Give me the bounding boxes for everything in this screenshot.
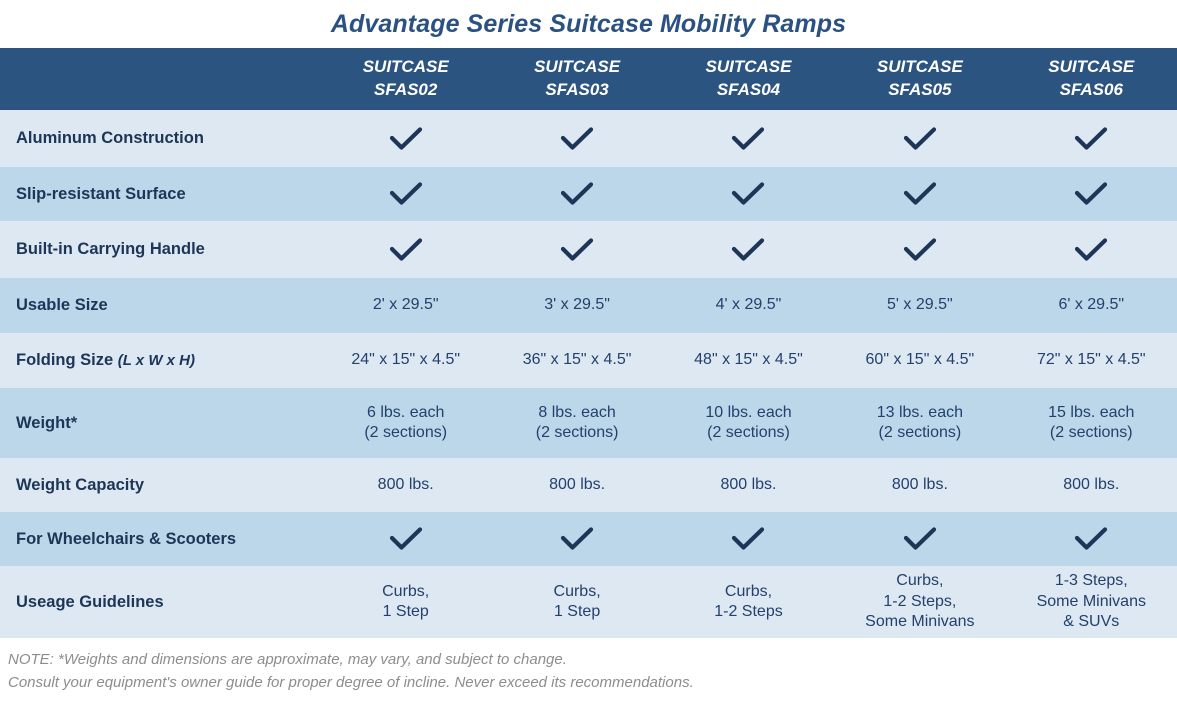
row-label-text: For Wheelchairs & Scooters <box>16 530 236 548</box>
cell-line: 6 lbs. each <box>320 403 491 423</box>
checkmark-icon <box>389 126 423 152</box>
footer-note: NOTE: *Weights and dimensions are approx… <box>0 638 1177 695</box>
cell-line: 1-2 Steps <box>663 602 834 622</box>
table-cell: 800 lbs. <box>663 458 834 512</box>
cell-line: 800 lbs. <box>491 475 662 495</box>
row-label-text: Built-in Carrying Handle <box>16 240 205 258</box>
table-row: Slip-resistant Surface <box>0 167 1177 221</box>
row-label-6: Weight Capacity <box>0 458 320 512</box>
table-cell: 2' x 29.5" <box>320 278 491 333</box>
table-cell <box>663 512 834 566</box>
checkmark-icon <box>560 181 594 207</box>
table-cell <box>491 167 662 221</box>
table-cell: 800 lbs. <box>834 458 1005 512</box>
cell-line: (2 sections) <box>320 423 491 443</box>
table-cell <box>834 221 1005 278</box>
checkmark-icon <box>1074 237 1108 263</box>
cell-line: 800 lbs. <box>1006 475 1177 495</box>
checkmark-icon <box>731 126 765 152</box>
table-cell <box>320 110 491 167</box>
checkmark-icon <box>560 526 594 552</box>
cell-line: 36" x 15" x 4.5" <box>491 350 662 370</box>
column-header-sfas02: SUITCASESFAS02 <box>320 48 491 110</box>
cell-line: 10 lbs. each <box>663 403 834 423</box>
column-header-line-2: SFAS04 <box>663 79 834 102</box>
table-row: Folding Size (L x W x H)24" x 15" x 4.5"… <box>0 333 1177 388</box>
column-header-sfas05: SUITCASESFAS05 <box>834 48 1005 110</box>
column-header-sfas04: SUITCASESFAS04 <box>663 48 834 110</box>
column-header-line-2: SFAS03 <box>491 79 662 102</box>
table-cell: 800 lbs. <box>320 458 491 512</box>
footer-note-line-2: Consult your equipment's owner guide for… <box>8 671 1177 694</box>
cell-line: (2 sections) <box>1006 423 1177 443</box>
cell-line: Some Minivans <box>834 612 1005 632</box>
row-label-7: For Wheelchairs & Scooters <box>0 512 320 566</box>
cell-line: 4' x 29.5" <box>663 295 834 315</box>
cell-line: 5' x 29.5" <box>834 295 1005 315</box>
table-cell: 6' x 29.5" <box>1006 278 1177 333</box>
checkmark-icon <box>903 181 937 207</box>
column-header-line-1: SUITCASE <box>491 56 662 79</box>
cell-line: (2 sections) <box>663 423 834 443</box>
cell-line: 2' x 29.5" <box>320 295 491 315</box>
cell-line: 6' x 29.5" <box>1006 295 1177 315</box>
table-row: Aluminum Construction <box>0 110 1177 167</box>
table-cell <box>1006 110 1177 167</box>
row-label-text: Useage Guidelines <box>16 593 164 611</box>
checkmark-icon <box>560 237 594 263</box>
checkmark-icon <box>731 526 765 552</box>
table-cell <box>834 110 1005 167</box>
table-cell <box>663 110 834 167</box>
cell-line: Curbs, <box>491 582 662 602</box>
table-row: Built-in Carrying Handle <box>0 221 1177 278</box>
cell-line: 800 lbs. <box>834 475 1005 495</box>
cell-line: 13 lbs. each <box>834 403 1005 423</box>
table-cell <box>320 512 491 566</box>
table-cell: 5' x 29.5" <box>834 278 1005 333</box>
checkmark-icon <box>731 181 765 207</box>
column-header-line-1: SUITCASE <box>834 56 1005 79</box>
checkmark-icon <box>903 526 937 552</box>
table-row: Weight Capacity800 lbs.800 lbs.800 lbs.8… <box>0 458 1177 512</box>
checkmark-icon <box>731 237 765 263</box>
table-row: Usable Size2' x 29.5"3' x 29.5"4' x 29.5… <box>0 278 1177 333</box>
table-cell: 3' x 29.5" <box>491 278 662 333</box>
table-cell: Curbs,1-2 Steps <box>663 566 834 638</box>
cell-line: Curbs, <box>320 582 491 602</box>
cell-line: (2 sections) <box>491 423 662 443</box>
table-row: Weight*6 lbs. each(2 sections)8 lbs. eac… <box>0 388 1177 458</box>
checkmark-icon <box>1074 126 1108 152</box>
table-cell: 10 lbs. each(2 sections) <box>663 388 834 458</box>
table-cell: 8 lbs. each(2 sections) <box>491 388 662 458</box>
column-header-line-1: SUITCASE <box>663 56 834 79</box>
table-cell <box>1006 512 1177 566</box>
cell-line: 1-3 Steps, <box>1006 571 1177 591</box>
cell-line: 60" x 15" x 4.5" <box>834 350 1005 370</box>
table-header-row: SUITCASESFAS02SUITCASESFAS03SUITCASESFAS… <box>0 48 1177 110</box>
row-label-2: Built-in Carrying Handle <box>0 221 320 278</box>
row-label-text: Aluminum Construction <box>16 129 204 147</box>
table-cell: 36" x 15" x 4.5" <box>491 333 662 388</box>
cell-line: 800 lbs. <box>663 475 834 495</box>
table-cell: Curbs,1 Step <box>320 566 491 638</box>
table-cell: 13 lbs. each(2 sections) <box>834 388 1005 458</box>
table-cell: 48" x 15" x 4.5" <box>663 333 834 388</box>
table-cell: 1-3 Steps,Some Minivans& SUVs <box>1006 566 1177 638</box>
column-header-sfas03: SUITCASESFAS03 <box>491 48 662 110</box>
column-header-line-1: SUITCASE <box>320 56 491 79</box>
table-cell <box>834 512 1005 566</box>
table-cell <box>491 512 662 566</box>
column-header-line-2: SFAS05 <box>834 79 1005 102</box>
table-cell: 72" x 15" x 4.5" <box>1006 333 1177 388</box>
checkmark-icon <box>903 126 937 152</box>
table-cell: 60" x 15" x 4.5" <box>834 333 1005 388</box>
table-row: Useage GuidelinesCurbs,1 StepCurbs,1 Ste… <box>0 566 1177 638</box>
checkmark-icon <box>389 181 423 207</box>
table-cell: 15 lbs. each(2 sections) <box>1006 388 1177 458</box>
cell-line: Curbs, <box>663 582 834 602</box>
table-cell <box>491 221 662 278</box>
cell-line: 800 lbs. <box>320 475 491 495</box>
table-cell: 24" x 15" x 4.5" <box>320 333 491 388</box>
row-label-1: Slip-resistant Surface <box>0 167 320 221</box>
cell-line: 24" x 15" x 4.5" <box>320 350 491 370</box>
footer-note-line-1: NOTE: *Weights and dimensions are approx… <box>8 648 1177 671</box>
cell-line: 48" x 15" x 4.5" <box>663 350 834 370</box>
table-cell <box>663 221 834 278</box>
cell-line: Some Minivans <box>1006 592 1177 612</box>
checkmark-icon <box>1074 526 1108 552</box>
cell-line: 1 Step <box>491 602 662 622</box>
cell-line: 1 Step <box>320 602 491 622</box>
table-cell: 4' x 29.5" <box>663 278 834 333</box>
column-header-line-2: SFAS06 <box>1006 79 1177 102</box>
specifications-table: SUITCASESFAS02SUITCASESFAS03SUITCASESFAS… <box>0 48 1177 638</box>
table-cell: 800 lbs. <box>491 458 662 512</box>
cell-line: 1-2 Steps, <box>834 592 1005 612</box>
row-label-4: Folding Size (L x W x H) <box>0 333 320 388</box>
table-cell <box>834 167 1005 221</box>
table-cell <box>1006 221 1177 278</box>
checkmark-icon <box>560 126 594 152</box>
row-label-suffix: (L x W x H) <box>118 352 195 369</box>
table-body: Aluminum ConstructionSlip-resistant Surf… <box>0 110 1177 638</box>
table-cell <box>663 167 834 221</box>
page-title: Advantage Series Suitcase Mobility Ramps <box>0 0 1177 48</box>
cell-line: 15 lbs. each <box>1006 403 1177 423</box>
cell-line: 8 lbs. each <box>491 403 662 423</box>
cell-line: & SUVs <box>1006 612 1177 632</box>
row-label-text: Weight Capacity <box>16 476 144 494</box>
table-header: SUITCASESFAS02SUITCASESFAS03SUITCASESFAS… <box>0 48 1177 110</box>
spec-sheet-page: Advantage Series Suitcase Mobility Ramps… <box>0 0 1177 703</box>
cell-line: 3' x 29.5" <box>491 295 662 315</box>
checkmark-icon <box>389 526 423 552</box>
table-cell <box>491 110 662 167</box>
table-cell <box>320 167 491 221</box>
row-label-3: Usable Size <box>0 278 320 333</box>
table-cell: Curbs,1 Step <box>491 566 662 638</box>
column-header-line-1: SUITCASE <box>1006 56 1177 79</box>
checkmark-icon <box>903 237 937 263</box>
table-cell <box>320 221 491 278</box>
table-cell: 6 lbs. each(2 sections) <box>320 388 491 458</box>
row-label-0: Aluminum Construction <box>0 110 320 167</box>
table-cell <box>1006 167 1177 221</box>
row-label-text: Slip-resistant Surface <box>16 185 186 203</box>
table-cell: 800 lbs. <box>1006 458 1177 512</box>
row-label-text: Weight* <box>16 414 77 432</box>
cell-line: 72" x 15" x 4.5" <box>1006 350 1177 370</box>
checkmark-icon <box>389 237 423 263</box>
table-corner-cell <box>0 48 320 110</box>
column-header-line-2: SFAS02 <box>320 79 491 102</box>
table-cell: Curbs,1-2 Steps,Some Minivans <box>834 566 1005 638</box>
row-label-5: Weight* <box>0 388 320 458</box>
row-label-text: Folding Size <box>16 351 118 369</box>
checkmark-icon <box>1074 181 1108 207</box>
row-label-8: Useage Guidelines <box>0 566 320 638</box>
row-label-text: Usable Size <box>16 296 108 314</box>
cell-line: (2 sections) <box>834 423 1005 443</box>
cell-line: Curbs, <box>834 571 1005 591</box>
column-header-sfas06: SUITCASESFAS06 <box>1006 48 1177 110</box>
table-row: For Wheelchairs & Scooters <box>0 512 1177 566</box>
